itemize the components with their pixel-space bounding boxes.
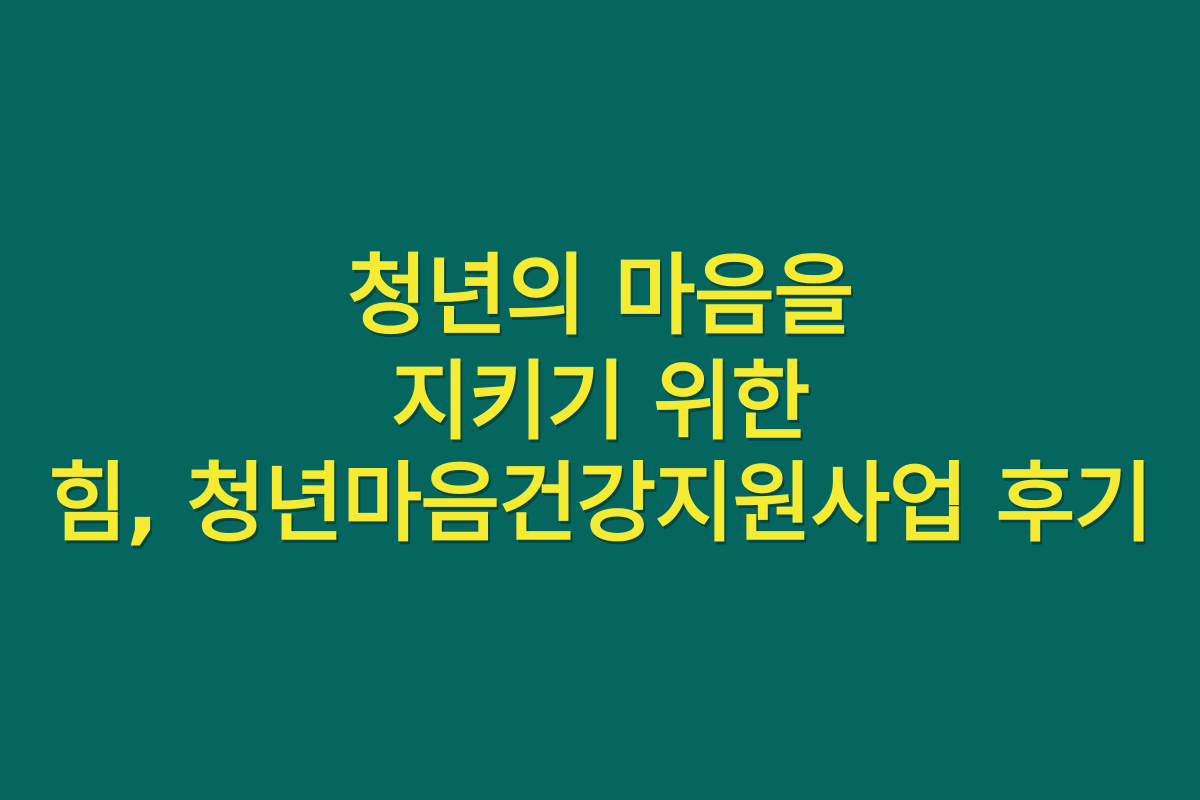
headline-line-1: 청년의 마음을 — [0, 243, 1200, 349]
headline-line-3: 힘, 청년마음건강지원사업 후기 — [0, 454, 1200, 556]
headline-block: 청년의 마음을 지키기 위한 힘, 청년마음건강지원사업 후기 — [0, 243, 1200, 555]
poster-canvas: 청년의 마음을 지키기 위한 힘, 청년마음건강지원사업 후기 — [0, 0, 1200, 800]
headline-line-2: 지키기 위한 — [0, 350, 1200, 454]
